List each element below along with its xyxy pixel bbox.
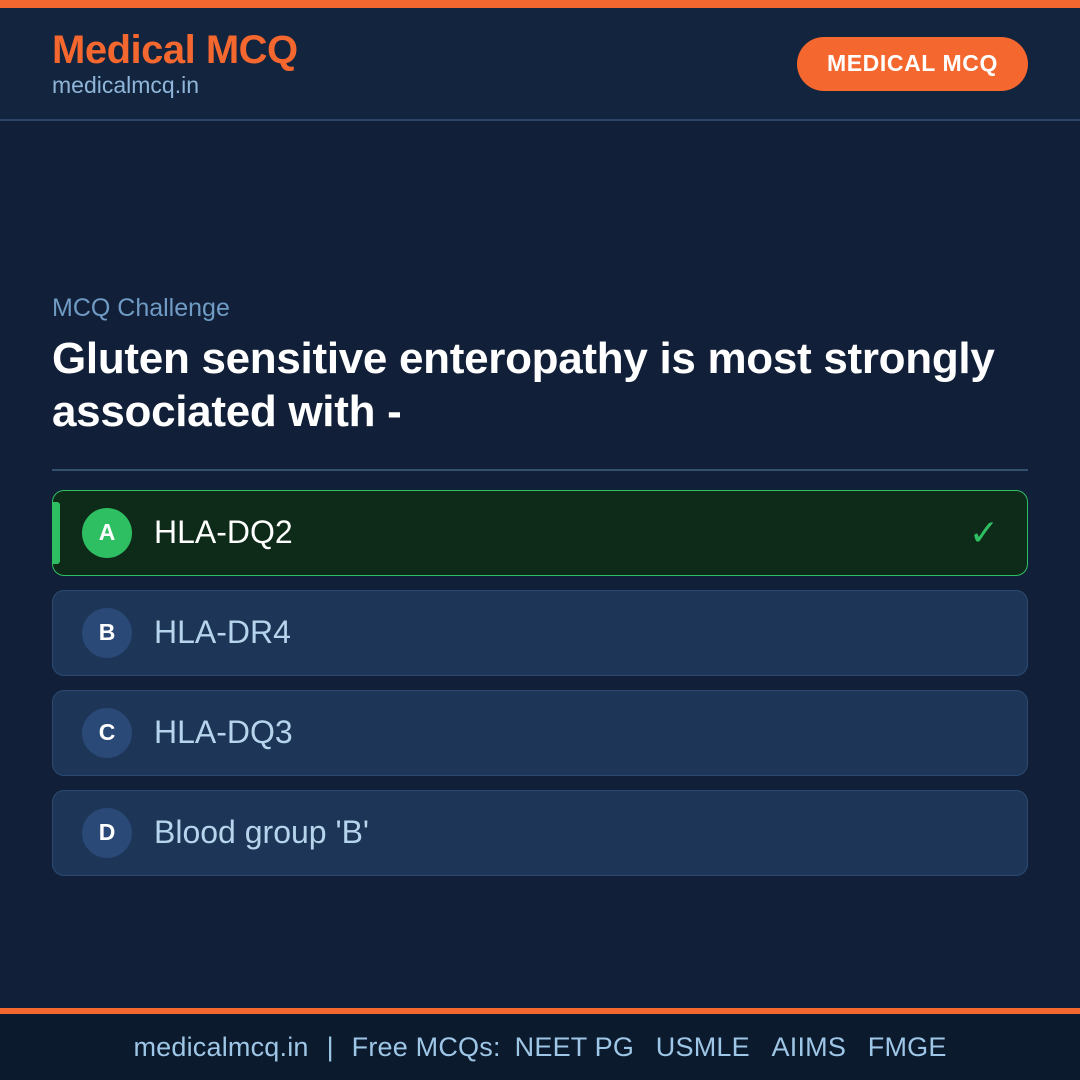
option-d-letter: D bbox=[82, 808, 132, 858]
option-c-text: HLA-DQ3 bbox=[154, 715, 999, 750]
brand-block: Medical MCQ medicalmcq.in bbox=[52, 29, 298, 98]
question-text: Gluten sensitive enteropathy is most str… bbox=[52, 333, 1012, 439]
question-divider bbox=[52, 469, 1028, 471]
option-a-letter: A bbox=[82, 508, 132, 558]
brand-title: Medical MCQ bbox=[52, 29, 298, 71]
footer-free-label: Free MCQs: bbox=[352, 1032, 501, 1063]
top-spacer bbox=[52, 121, 1028, 293]
option-d-text: Blood group 'B' bbox=[154, 815, 999, 850]
footer: medicalmcq.in | Free MCQs: NEET PG USMLE… bbox=[0, 1014, 1080, 1080]
option-d[interactable]: D Blood group 'B' bbox=[52, 790, 1028, 876]
footer-separator: | bbox=[309, 1032, 352, 1063]
footer-site: medicalmcq.in bbox=[133, 1032, 308, 1063]
footer-exam-usmle: USMLE bbox=[642, 1032, 750, 1062]
option-b-text: HLA-DR4 bbox=[154, 615, 999, 650]
check-mark-icon: ✓ bbox=[969, 515, 999, 551]
top-accent-bar bbox=[0, 0, 1080, 8]
bottom-spacer bbox=[52, 876, 1028, 1008]
header-badge: MEDICAL MCQ bbox=[797, 37, 1028, 91]
option-c-letter: C bbox=[82, 708, 132, 758]
option-b[interactable]: B HLA-DR4 bbox=[52, 590, 1028, 676]
option-a-text: HLA-DQ2 bbox=[154, 515, 969, 550]
mcq-card: Medical MCQ medicalmcq.in MEDICAL MCQ MC… bbox=[0, 0, 1080, 1080]
options-list: A HLA-DQ2 ✓ B HLA-DR4 C HLA-DQ3 D Blood … bbox=[52, 490, 1028, 876]
option-a[interactable]: A HLA-DQ2 ✓ bbox=[52, 490, 1028, 576]
header: Medical MCQ medicalmcq.in MEDICAL MCQ bbox=[0, 8, 1080, 121]
eyebrow-label: MCQ Challenge bbox=[52, 293, 1028, 323]
footer-exam-neet-pg: NEET PG bbox=[501, 1032, 634, 1062]
footer-exam-aiims: AIIMS bbox=[758, 1032, 847, 1062]
footer-exam-list: NEET PG USMLE AIIMS FMGE bbox=[501, 1032, 947, 1063]
brand-subtitle: medicalmcq.in bbox=[52, 73, 298, 98]
option-b-letter: B bbox=[82, 608, 132, 658]
option-c[interactable]: C HLA-DQ3 bbox=[52, 690, 1028, 776]
footer-exam-fmge: FMGE bbox=[854, 1032, 947, 1062]
correct-accent-bar bbox=[53, 502, 60, 564]
main-content: MCQ Challenge Gluten sensitive enteropat… bbox=[0, 121, 1080, 1008]
